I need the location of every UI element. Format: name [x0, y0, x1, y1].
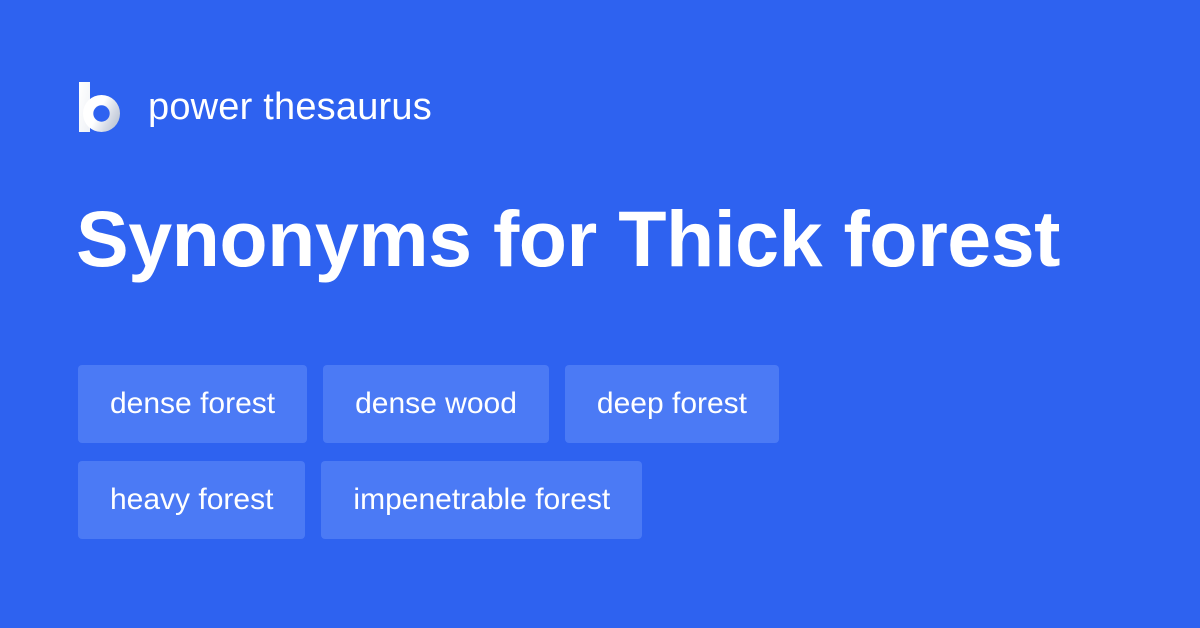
- power-thesaurus-b-logo-icon: [78, 82, 122, 132]
- synonym-chip[interactable]: dense forest: [78, 365, 307, 443]
- synonym-chip[interactable]: dense wood: [323, 365, 549, 443]
- synonym-chip[interactable]: heavy forest: [78, 461, 305, 539]
- page-title: Synonyms for Thick forest: [76, 199, 1060, 278]
- synonym-chip[interactable]: deep forest: [565, 365, 779, 443]
- logo-mark: [78, 82, 122, 132]
- synonym-chip-row: dense forest dense wood deep forest: [78, 365, 1138, 443]
- synonym-chip-row: heavy forest impenetrable forest: [78, 461, 1138, 539]
- brand-name: power thesaurus: [148, 88, 432, 126]
- synonym-chip-list: dense forest dense wood deep forest heav…: [78, 365, 1138, 539]
- brand-lockup[interactable]: power thesaurus: [78, 82, 432, 132]
- synonym-chip[interactable]: impenetrable forest: [321, 461, 642, 539]
- page-root: power thesaurus Synonyms for Thick fores…: [0, 0, 1200, 628]
